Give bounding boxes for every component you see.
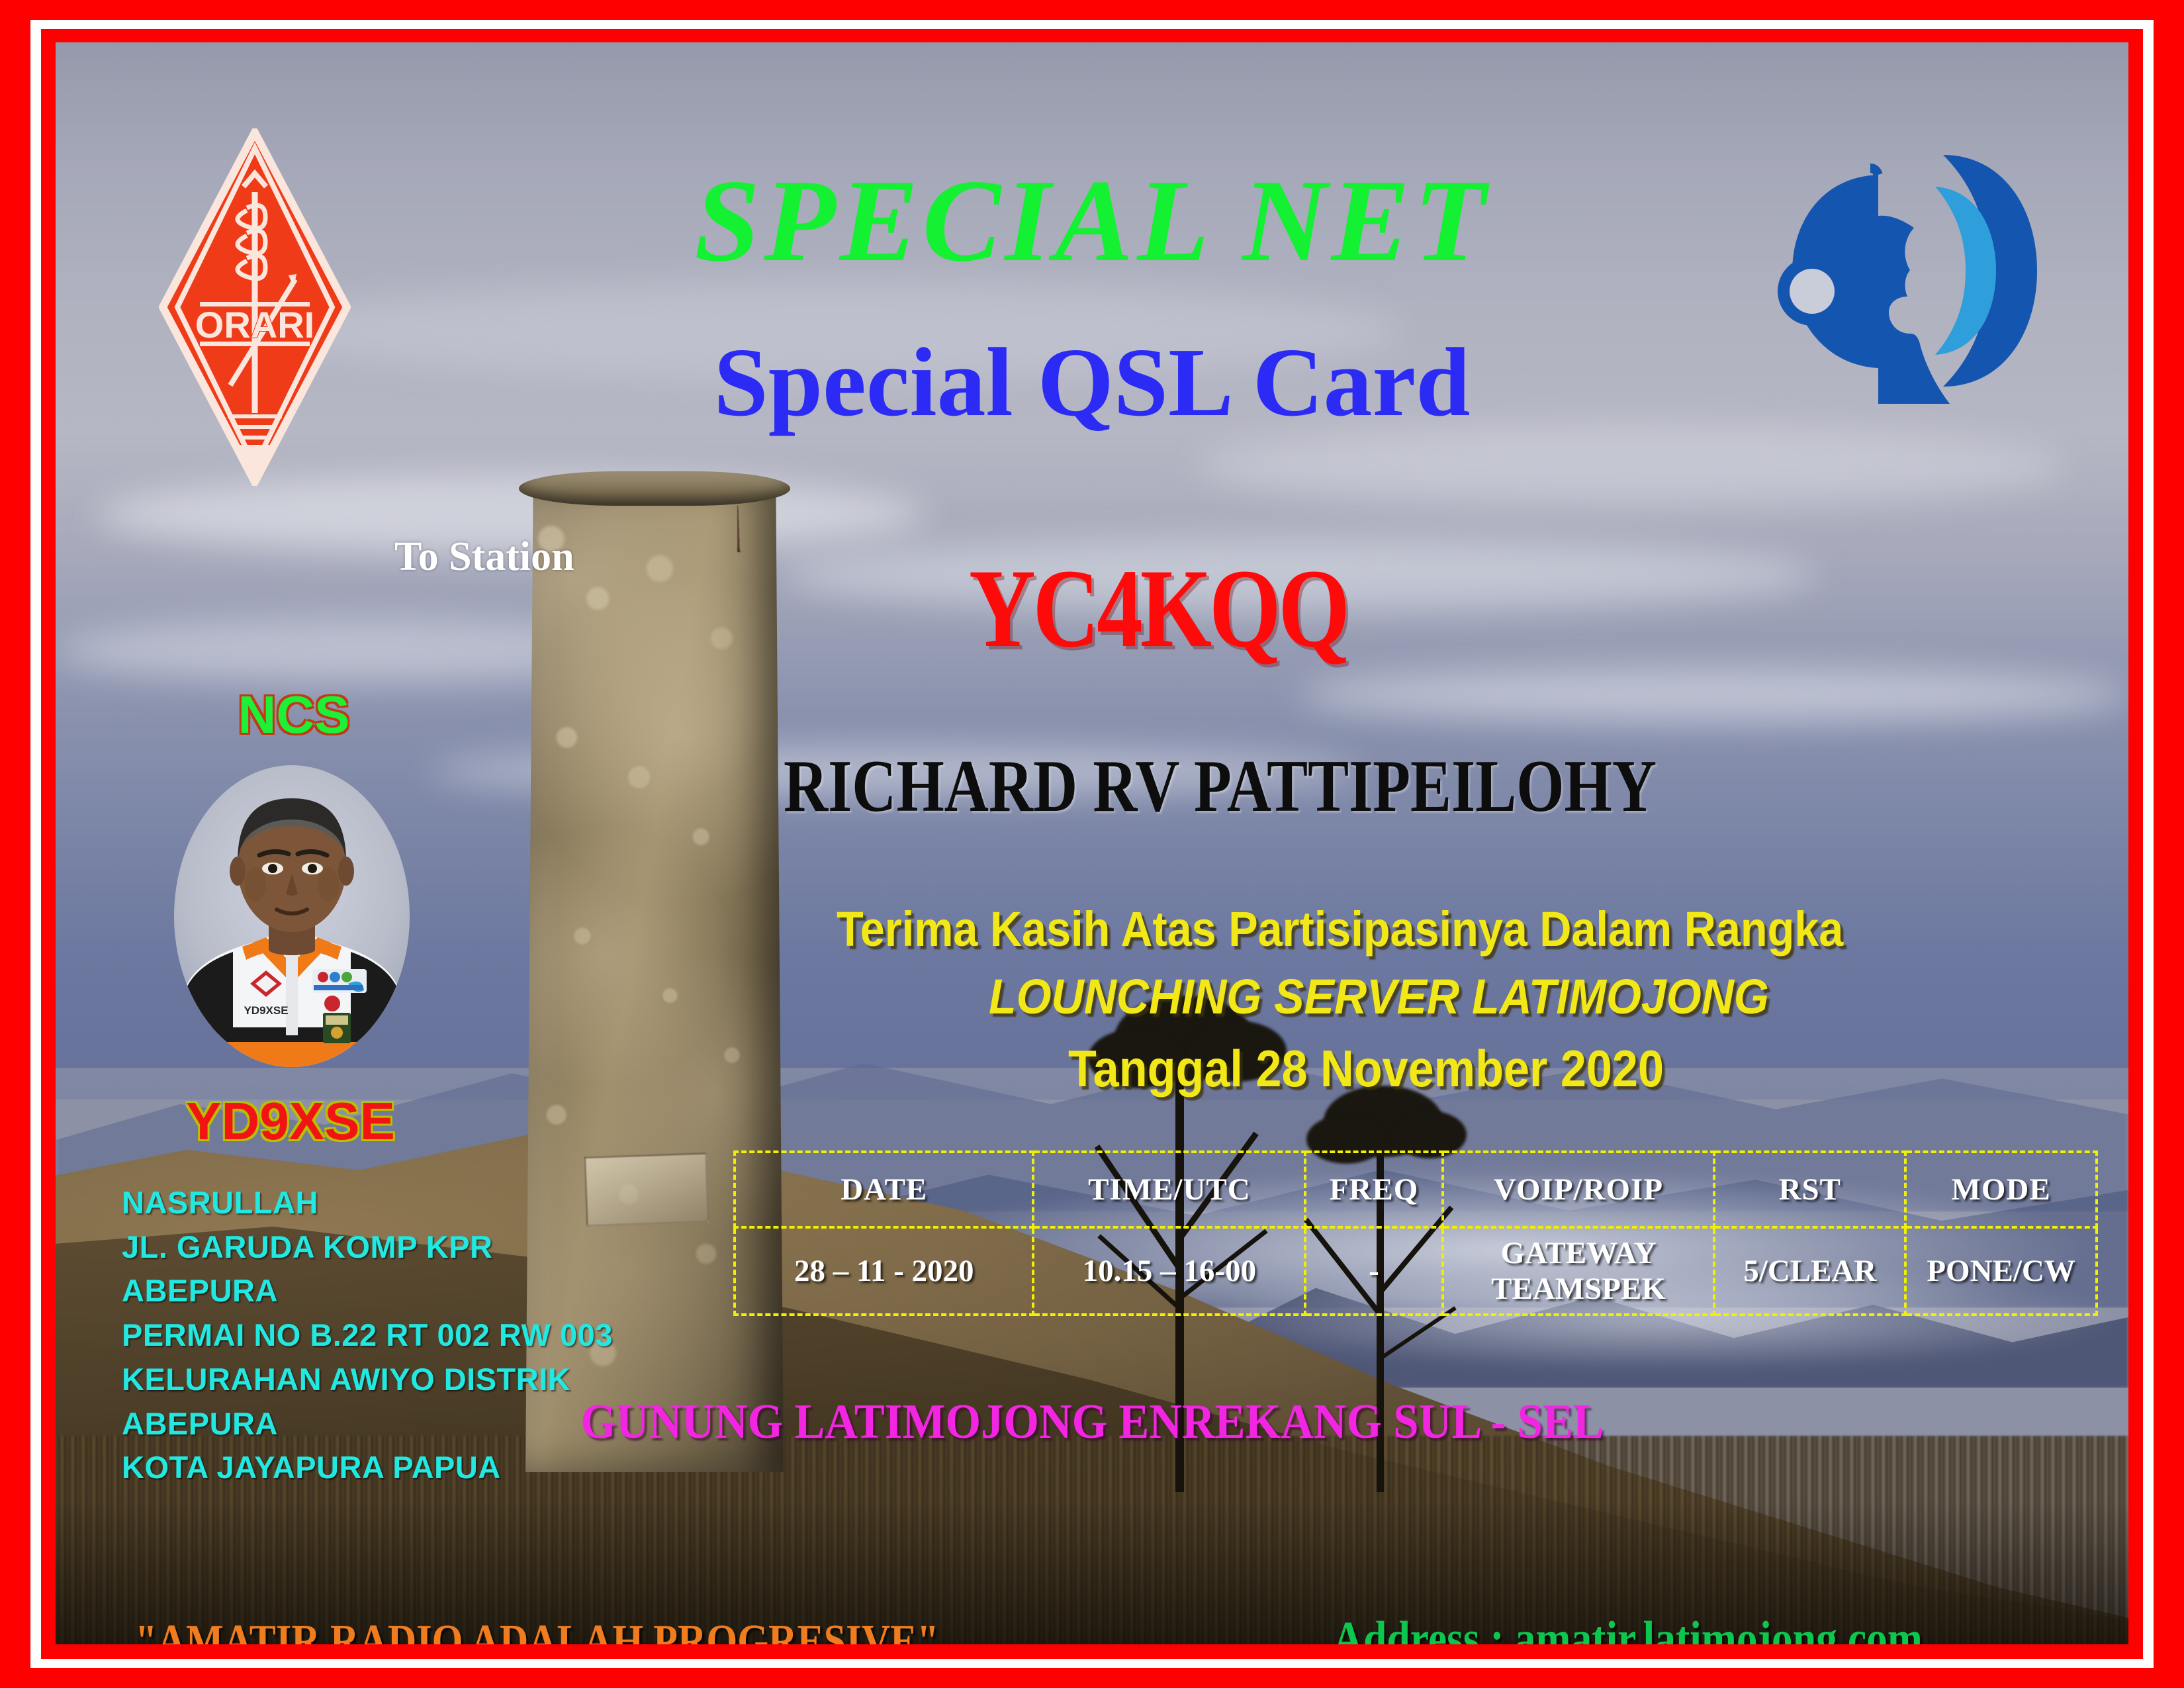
pillar-cap [519,471,790,506]
column-header-date: DATE [735,1152,1033,1227]
address-line: NASRULLAH [122,1181,613,1225]
station-callsign: YC4KQQ [969,552,1347,665]
ncs-operator-block: NCS [128,684,459,1148]
to-station-label: To Station [394,534,574,581]
cloud-band [1299,667,2128,724]
cell-time: 10.15 – 16-00 [1033,1227,1305,1315]
location-line: GUNUNG LATIMOJONG ENREKANG SUL - SEL [128,1394,2056,1450]
card-inner-red-frame: ORARI [41,29,2143,1659]
column-header-voip-roip: VOIP/ROIP [1443,1152,1715,1227]
cell-voip-roip: GATEWAY TEAMSPEK [1443,1227,1715,1315]
address-line: ABEPURA [122,1269,613,1313]
operator-name: RICHARD RV PATTIPEILOHY [784,749,1657,823]
qsl-card: ORARI [0,0,2184,1688]
cloud-band [1196,427,2066,507]
thanks-line-1: Terima Kasih Atas Partisipasinya Dalam R… [837,903,2004,956]
thanks-line-2-event: LOUNCHING SERVER LATIMOJONG [989,970,2042,1023]
address-line: KOTA JAYAPURA PAPUA [122,1446,613,1490]
page-title-special-net: SPECIAL NET [56,162,2128,279]
cell-voip-line-2: TEAMSPEK [1444,1271,1713,1307]
cell-freq: - [1305,1227,1442,1315]
table-header-row: DATE TIME/UTC FREQ VOIP/ROIP RST MODE [735,1152,2097,1227]
ncs-label: NCS [128,684,459,745]
cell-voip-line-1: GATEWAY [1444,1235,1713,1271]
table-row: 28 – 11 - 2020 10.15 – 16-00 - GATEWAY T… [735,1227,2097,1315]
cell-rst: 5/CLEAR [1714,1227,1905,1315]
page-subtitle-special-qsl: Special QSL Card [56,334,2128,432]
footer-motto: "AMATIR RADIO ADALAH PROGRESIVE" [135,1615,939,1644]
footer-website: Address : amatir.latimojong.com [1333,1611,1923,1644]
pillar-twigs [737,506,843,552]
column-header-rst: RST [1714,1152,1905,1227]
qso-log-table: DATE TIME/UTC FREQ VOIP/ROIP RST MODE 28… [733,1150,2098,1316]
cell-date: 28 – 11 - 2020 [735,1227,1033,1315]
ncs-callsign: YD9XSE [122,1091,459,1152]
thanks-block: Terima Kasih Atas Partisipasinya Dalam R… [837,903,2128,1096]
card-photo-background: ORARI [56,42,2128,1644]
column-header-time: TIME/UTC [1033,1152,1305,1227]
cell-mode: PONE/CW [1905,1227,2097,1315]
column-header-mode: MODE [1905,1152,2097,1227]
thanks-line-3-date: Tanggal 28 November 2020 [1068,1041,2027,1096]
card-white-gap: ORARI [30,20,2154,1668]
photo-vignette [150,751,434,1068]
address-line: JL. GARUDA KOMP KPR [122,1225,613,1270]
address-line: PERMAI NO B.22 RT 002 RW 003 [122,1313,613,1358]
ncs-operator-photo: YD9XSE [150,751,434,1068]
column-header-freq: FREQ [1305,1152,1442,1227]
